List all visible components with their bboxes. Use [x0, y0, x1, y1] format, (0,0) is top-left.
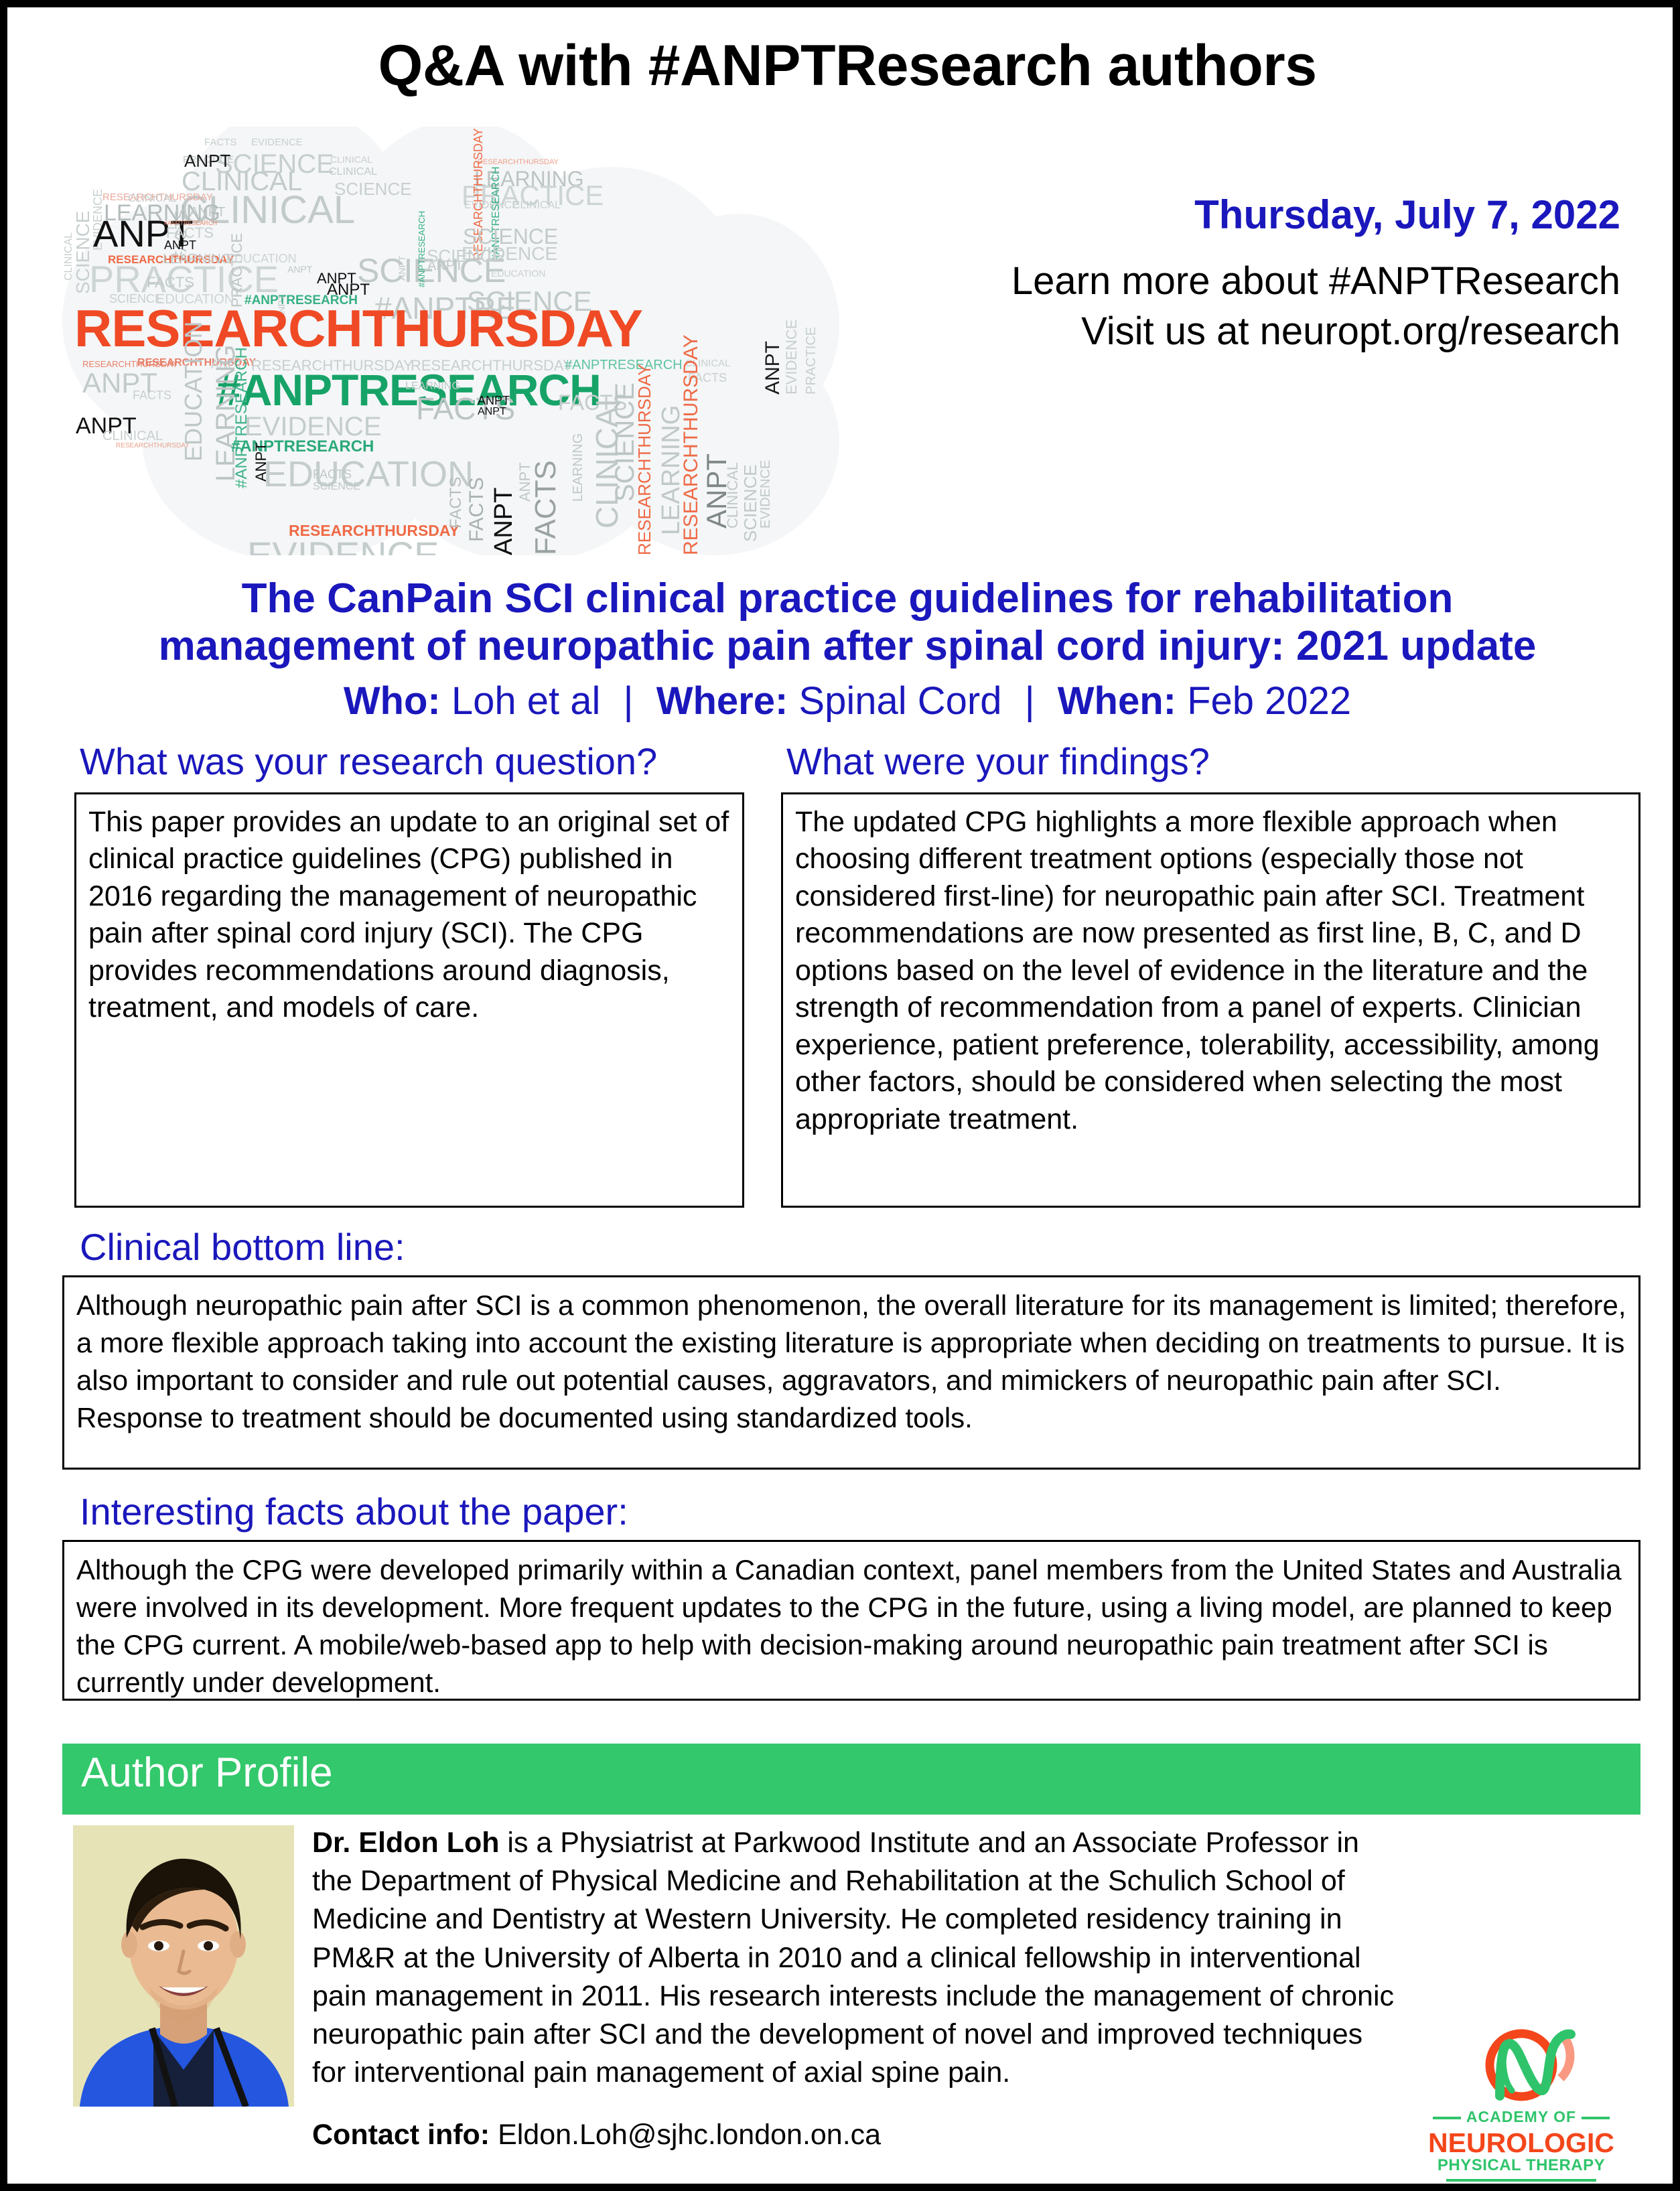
anpt-logo: ACADEMY OF NEUROLOGIC PHYSICAL THERAPY [1421, 2024, 1622, 2178]
logo-academy-text: ACADEMY OF [1421, 2109, 1622, 2125]
author-bio-text: is a Physiatrist at Parkwood Institute a… [312, 1827, 1394, 2089]
paper-title-line1: The CanPain SCI clinical practice guidel… [48, 575, 1647, 623]
paper-title-line2: management of neuropathic pain after spi… [48, 623, 1647, 670]
author-name: Dr. Eldon Loh [312, 1827, 499, 1859]
paper-metadata: Who: Loh et al | Where: Spinal Cord | Wh… [48, 679, 1647, 723]
paper-title: The CanPain SCI clinical practice guidel… [48, 575, 1647, 670]
author-photo-illustration [73, 1825, 294, 2107]
clinical-bottom-line-heading: Clinical bottom line: [80, 1228, 405, 1266]
where-value: Spinal Cord [798, 679, 1001, 723]
research-question-box: This paper provides an update to an orig… [74, 792, 744, 1208]
poster-page: Q&A with #ANPTResearch authors FACTS EVI… [0, 0, 1680, 2191]
findings-box: The updated CPG highlights a more flexib… [781, 792, 1640, 1208]
contact-email[interactable]: Eldon.Loh@sjhc.london.on.ca [498, 2119, 881, 2151]
author-profile-label: Author Profile [81, 1749, 333, 1796]
research-question-heading: What was your research question? [80, 743, 657, 780]
who-label: Who: [344, 679, 441, 723]
metadata-separator: | [1013, 679, 1047, 723]
event-date: Thursday, July 7, 2022 [1194, 192, 1620, 238]
findings-heading: What were your findings? [786, 743, 1210, 780]
author-profile-bar: Author Profile [62, 1744, 1640, 1815]
contact-info: Contact info: Eldon.Loh@sjhc.london.on.c… [312, 2119, 881, 2151]
interesting-facts-heading: Interesting facts about the paper: [80, 1493, 628, 1531]
who-value: Loh et al [451, 679, 601, 723]
clinical-bottom-line-box: Although neuropathic pain after SCI is a… [62, 1275, 1640, 1470]
contact-label: Contact info: [312, 2119, 490, 2151]
interesting-facts-box: Although the CPG were developed primaril… [62, 1540, 1640, 1701]
when-value: Feb 2022 [1187, 679, 1351, 723]
logo-neurologic-text: NEUROLOGIC [1421, 2129, 1622, 2157]
page-title: Q&A with #ANPTResearch authors [7, 33, 1680, 99]
metadata-separator: | [612, 679, 646, 723]
website-text[interactable]: Visit us at neuropt.org/research [1081, 309, 1620, 354]
when-label: When: [1058, 679, 1176, 723]
where-label: Where: [656, 679, 788, 723]
anpt-logo-mark-icon [1421, 2024, 1622, 2111]
avatar [73, 1825, 294, 2107]
learn-more-text: Learn more about #ANPTResearch [1011, 259, 1620, 303]
wordcloud-graphic: FACTS EVIDENCE PRACTICE SCIENCE CLINICAL… [62, 127, 839, 555]
logo-rule-bottom [1446, 2179, 1596, 2182]
logo-physical-therapy-text: PHYSICAL THERAPY [1421, 2158, 1622, 2174]
author-bio: Dr. Eldon Loh is a Physiatrist at Parkwo… [312, 1824, 1397, 2092]
